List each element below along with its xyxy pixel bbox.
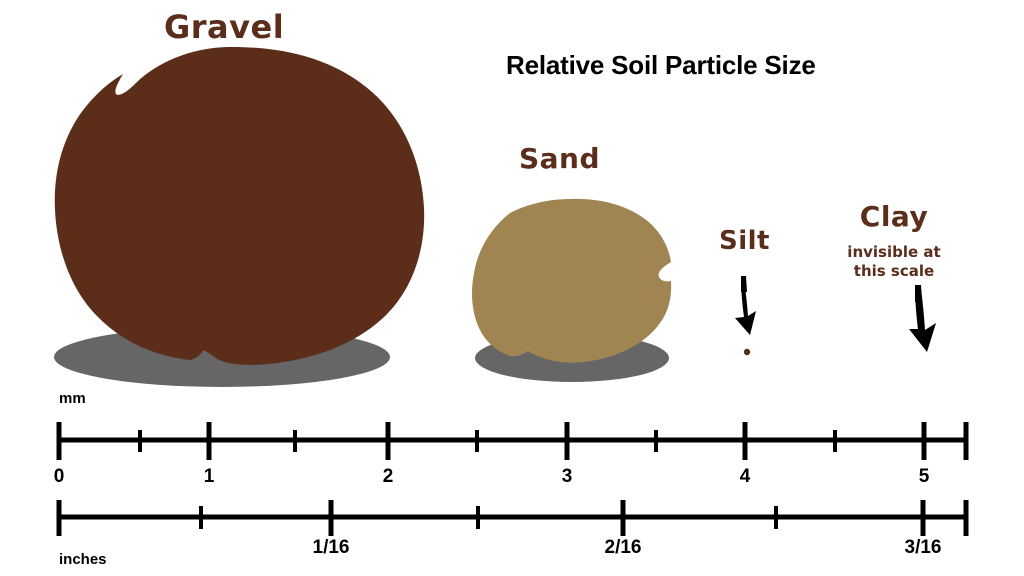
mm-tick-label-1: 1: [204, 466, 215, 488]
clay-arrow-icon: [909, 285, 936, 352]
silt-arrow-icon: [735, 276, 756, 335]
diagram-artwork: [0, 0, 1024, 576]
gravel-particle: [55, 47, 424, 365]
mm-tick-label-0: 0: [54, 466, 65, 488]
sand-particle: [472, 199, 671, 363]
silt-particle: [744, 349, 750, 355]
ruler-caption-mm: mm: [59, 390, 86, 407]
inches-tick-label-2-16: 2/16: [605, 537, 642, 559]
mm-tick-label-3: 3: [562, 466, 573, 488]
inches-tick-label-3-16: 3/16: [905, 537, 942, 559]
ruler-mm: [59, 422, 967, 460]
ruler-caption-inches: inches: [59, 551, 107, 568]
inches-tick-label-1-16: 1/16: [313, 537, 350, 559]
mm-tick-label-5: 5: [919, 466, 930, 488]
mm-tick-label-2: 2: [383, 466, 394, 488]
soil-particle-diagram: Relative Soil Particle Size Gravel Sand …: [0, 0, 1024, 576]
mm-tick-label-4: 4: [740, 466, 751, 488]
ruler-inches: [59, 500, 967, 536]
